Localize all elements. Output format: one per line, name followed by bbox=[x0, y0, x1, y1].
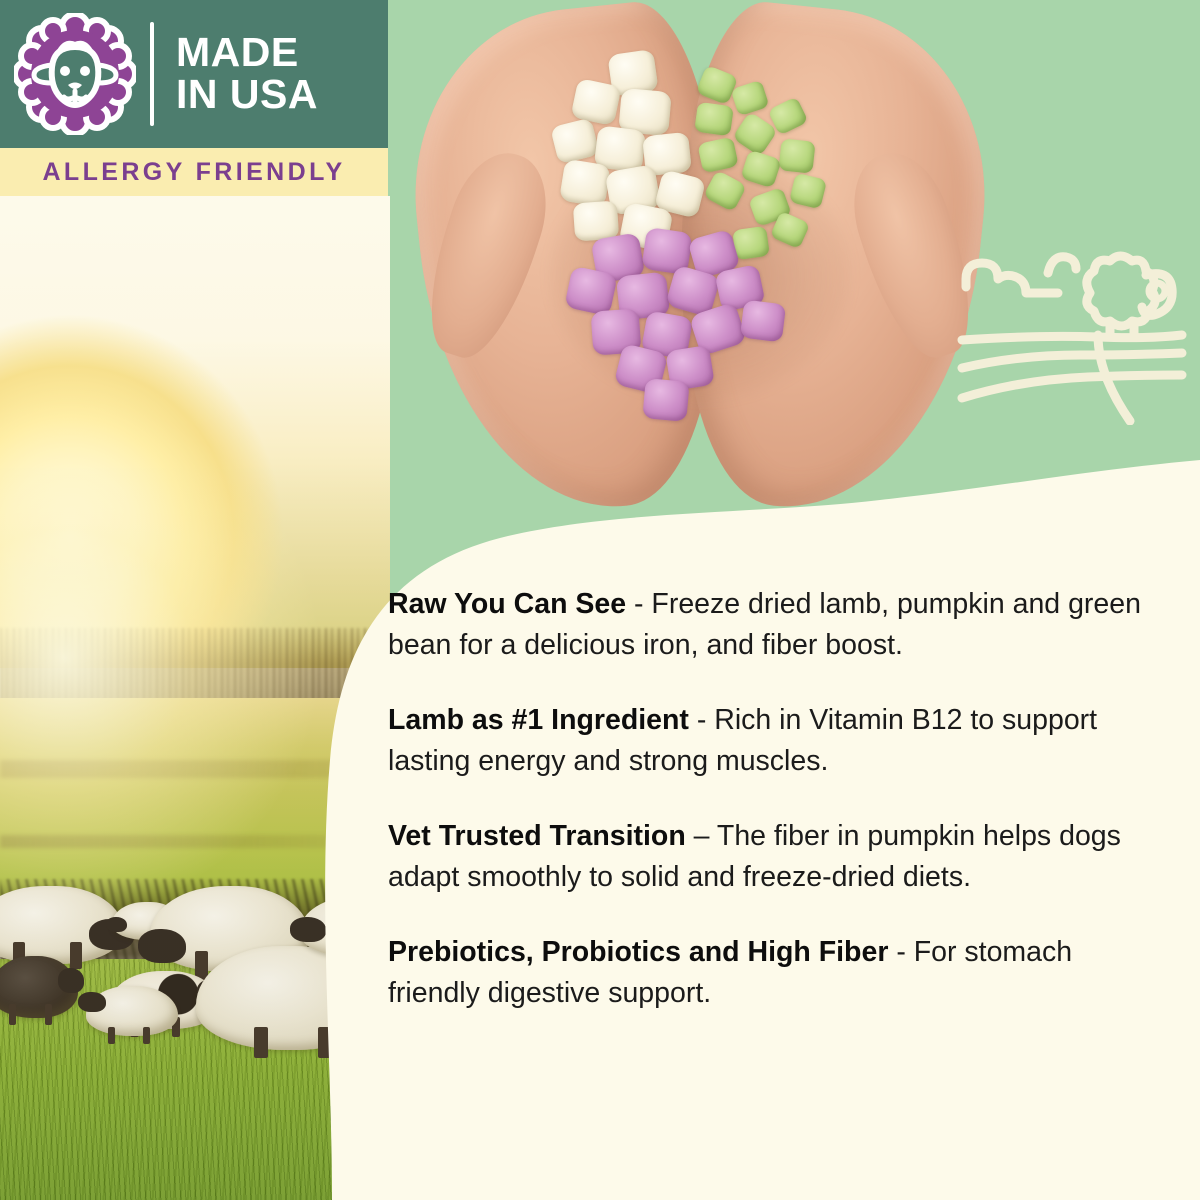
infographic-canvas: MADE IN USA ALLERGY FRIENDLY Raw You Can… bbox=[0, 0, 1200, 1200]
badge-divider bbox=[150, 22, 154, 126]
field-line-1 bbox=[962, 335, 1182, 340]
field-line-2 bbox=[962, 353, 1182, 368]
allergy-friendly-band: ALLERGY FRIENDLY bbox=[0, 148, 388, 196]
benefit-item: Vet Trusted Transition – The fiber in pu… bbox=[388, 816, 1154, 898]
lamb-white bbox=[86, 986, 178, 1036]
farm-sheep-hills-icon bbox=[948, 235, 1198, 425]
benefit-heading: Prebiotics, Probiotics and High Fiber bbox=[388, 936, 888, 968]
made-line-1: MADE bbox=[176, 32, 318, 74]
made-in-usa-badge: MADE IN USA bbox=[0, 0, 388, 148]
hands-holding-food-photo bbox=[430, 0, 970, 560]
benefits-list: Raw You Can See - Freeze dried lamb, pum… bbox=[388, 584, 1154, 1014]
sheep-pasture-photo bbox=[0, 196, 390, 1200]
lamb-dark bbox=[0, 956, 78, 1018]
cloud-icon bbox=[966, 263, 1058, 293]
sheep-foreground bbox=[196, 946, 376, 1050]
benefit-heading: Raw You Can See bbox=[388, 588, 626, 620]
made-line-2: IN USA bbox=[176, 74, 318, 116]
benefit-item: Lamb as #1 Ingredient - Rich in Vitamin … bbox=[388, 700, 1154, 782]
benefit-heading: Vet Trusted Transition bbox=[388, 820, 686, 852]
freeze-dried-food-pile bbox=[548, 44, 858, 404]
field-line-3 bbox=[962, 375, 1182, 398]
benefit-heading: Lamb as #1 Ingredient bbox=[388, 704, 689, 736]
sunset-sky bbox=[0, 196, 390, 668]
made-in-usa-text: MADE IN USA bbox=[176, 32, 318, 116]
allergy-friendly-label: ALLERGY FRIENDLY bbox=[42, 158, 345, 187]
cloud-wisp-icon bbox=[1048, 257, 1076, 273]
sheep-face-logo-icon bbox=[14, 13, 136, 135]
benefit-item: Raw You Can See - Freeze dried lamb, pum… bbox=[388, 584, 1154, 666]
brand-logo bbox=[0, 13, 150, 135]
sheep-right-edge bbox=[300, 896, 390, 958]
benefit-item: Prebiotics, Probiotics and High Fiber - … bbox=[388, 932, 1154, 1014]
